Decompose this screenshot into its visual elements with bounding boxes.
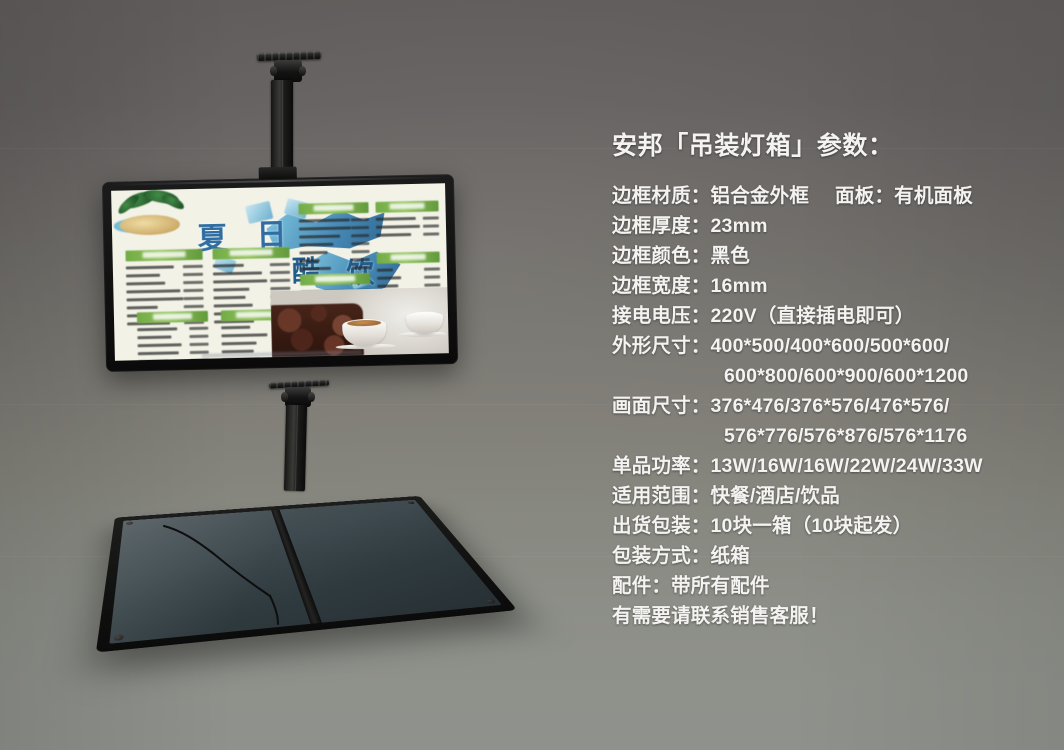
spec-row-frame-color: 边框颜色：黑色 xyxy=(612,241,1042,271)
spec-label: 接电电压： xyxy=(612,305,711,327)
spec-value: 带所有配件 xyxy=(671,575,770,597)
spec-label: 边框材质： xyxy=(612,185,711,207)
menu-section xyxy=(375,200,439,239)
spec-value: 快餐/酒店/饮品 xyxy=(711,485,840,507)
spec-title: 安邦「吊装灯箱」参数： xyxy=(612,126,1042,162)
spec-footer: 有需要请联系销售客服！ xyxy=(612,601,1042,631)
spec-row-frame-material: 边框材质：铝合金外框面板：有机面板 xyxy=(612,181,1042,211)
product-photo: 夏 日 酷 饮 xyxy=(0,0,560,750)
spec-value: 23mm xyxy=(711,215,768,237)
spec-value: 16mm xyxy=(711,275,768,297)
spec-label: 边框宽度： xyxy=(612,275,711,297)
spec-label: 边框颜色： xyxy=(612,245,711,267)
lightbox-back-unit[interactable] xyxy=(118,468,448,693)
spec-label: 外形尺寸： xyxy=(612,335,711,357)
spec-label: 出货包装： xyxy=(612,515,711,537)
menu-coffee-photo xyxy=(270,287,448,357)
spec-value: 400*500/400*600/500*600/ xyxy=(711,335,950,357)
menu-section xyxy=(298,202,370,282)
spec-value-cont: 576*776/576*876/576*1176 xyxy=(724,425,967,447)
menu-panel-face: 夏 日 酷 饮 xyxy=(111,183,449,361)
spec-label: 边框厚度： xyxy=(612,215,711,237)
spec-row-power: 单品功率：13W/16W/16W/22W/24W/33W xyxy=(612,451,1042,481)
spec-row-outer-size-cont: 600*800/600*900/600*1200 xyxy=(612,361,1042,391)
menu-section xyxy=(137,311,208,361)
lightbox-front-unit[interactable]: 夏 日 酷 饮 xyxy=(102,174,458,372)
spec-row-outer-size: 外形尺寸：400*500/400*600/500*600/ xyxy=(612,331,1042,361)
spec-value: 13W/16W/16W/22W/24W/33W xyxy=(711,455,983,477)
spec-value-2: 有机面板 xyxy=(894,185,973,207)
spec-row-shipping-pack: 出货包装：10块一箱（10块起发） xyxy=(612,511,1042,541)
spec-label: 包装方式： xyxy=(612,545,711,567)
spec-value: 纸箱 xyxy=(711,545,750,567)
spec-row-frame-width: 边框宽度：16mm xyxy=(612,271,1042,301)
spec-label: 适用范围： xyxy=(612,485,711,507)
spec-label-2: 面板： xyxy=(835,185,894,207)
spec-row-graphic-size-cont: 576*776/576*876/576*1176 xyxy=(612,421,1042,451)
spec-value: 铝合金外框 xyxy=(711,185,810,207)
spec-label: 画面尺寸： xyxy=(612,395,711,417)
spec-row-frame-thickness: 边框厚度：23mm xyxy=(612,211,1042,241)
spec-value-cont: 600*800/600*900/600*1200 xyxy=(724,365,968,387)
tilt-knuckle-icon xyxy=(274,60,302,82)
spec-row-graphic-size: 画面尺寸：376*476/376*576/476*576/ xyxy=(612,391,1042,421)
spec-value: 220V（直接插电即可） xyxy=(711,305,915,327)
spec-row-application: 适用范围：快餐/酒店/饮品 xyxy=(612,481,1042,511)
spec-label: 单品功率： xyxy=(612,455,711,477)
spec-value: 376*476/376*576/476*576/ xyxy=(711,395,950,417)
spec-value: 10块一箱（10块起发） xyxy=(711,515,913,537)
spec-row-pack-method: 包装方式：纸箱 xyxy=(612,541,1042,571)
spec-row-voltage: 接电电压：220V（直接插电即可） xyxy=(612,301,1042,331)
spec-panel: 安邦「吊装灯箱」参数： 边框材质：铝合金外框面板：有机面板 边框厚度：23mm … xyxy=(612,126,1042,631)
pole-collar-icon xyxy=(259,167,297,180)
spec-row-accessories: 配件：带所有配件 xyxy=(612,571,1042,601)
menu-section xyxy=(376,251,440,290)
spec-label: 配件： xyxy=(612,575,671,597)
spec-value: 黑色 xyxy=(711,245,750,267)
power-wire-icon xyxy=(118,468,448,693)
